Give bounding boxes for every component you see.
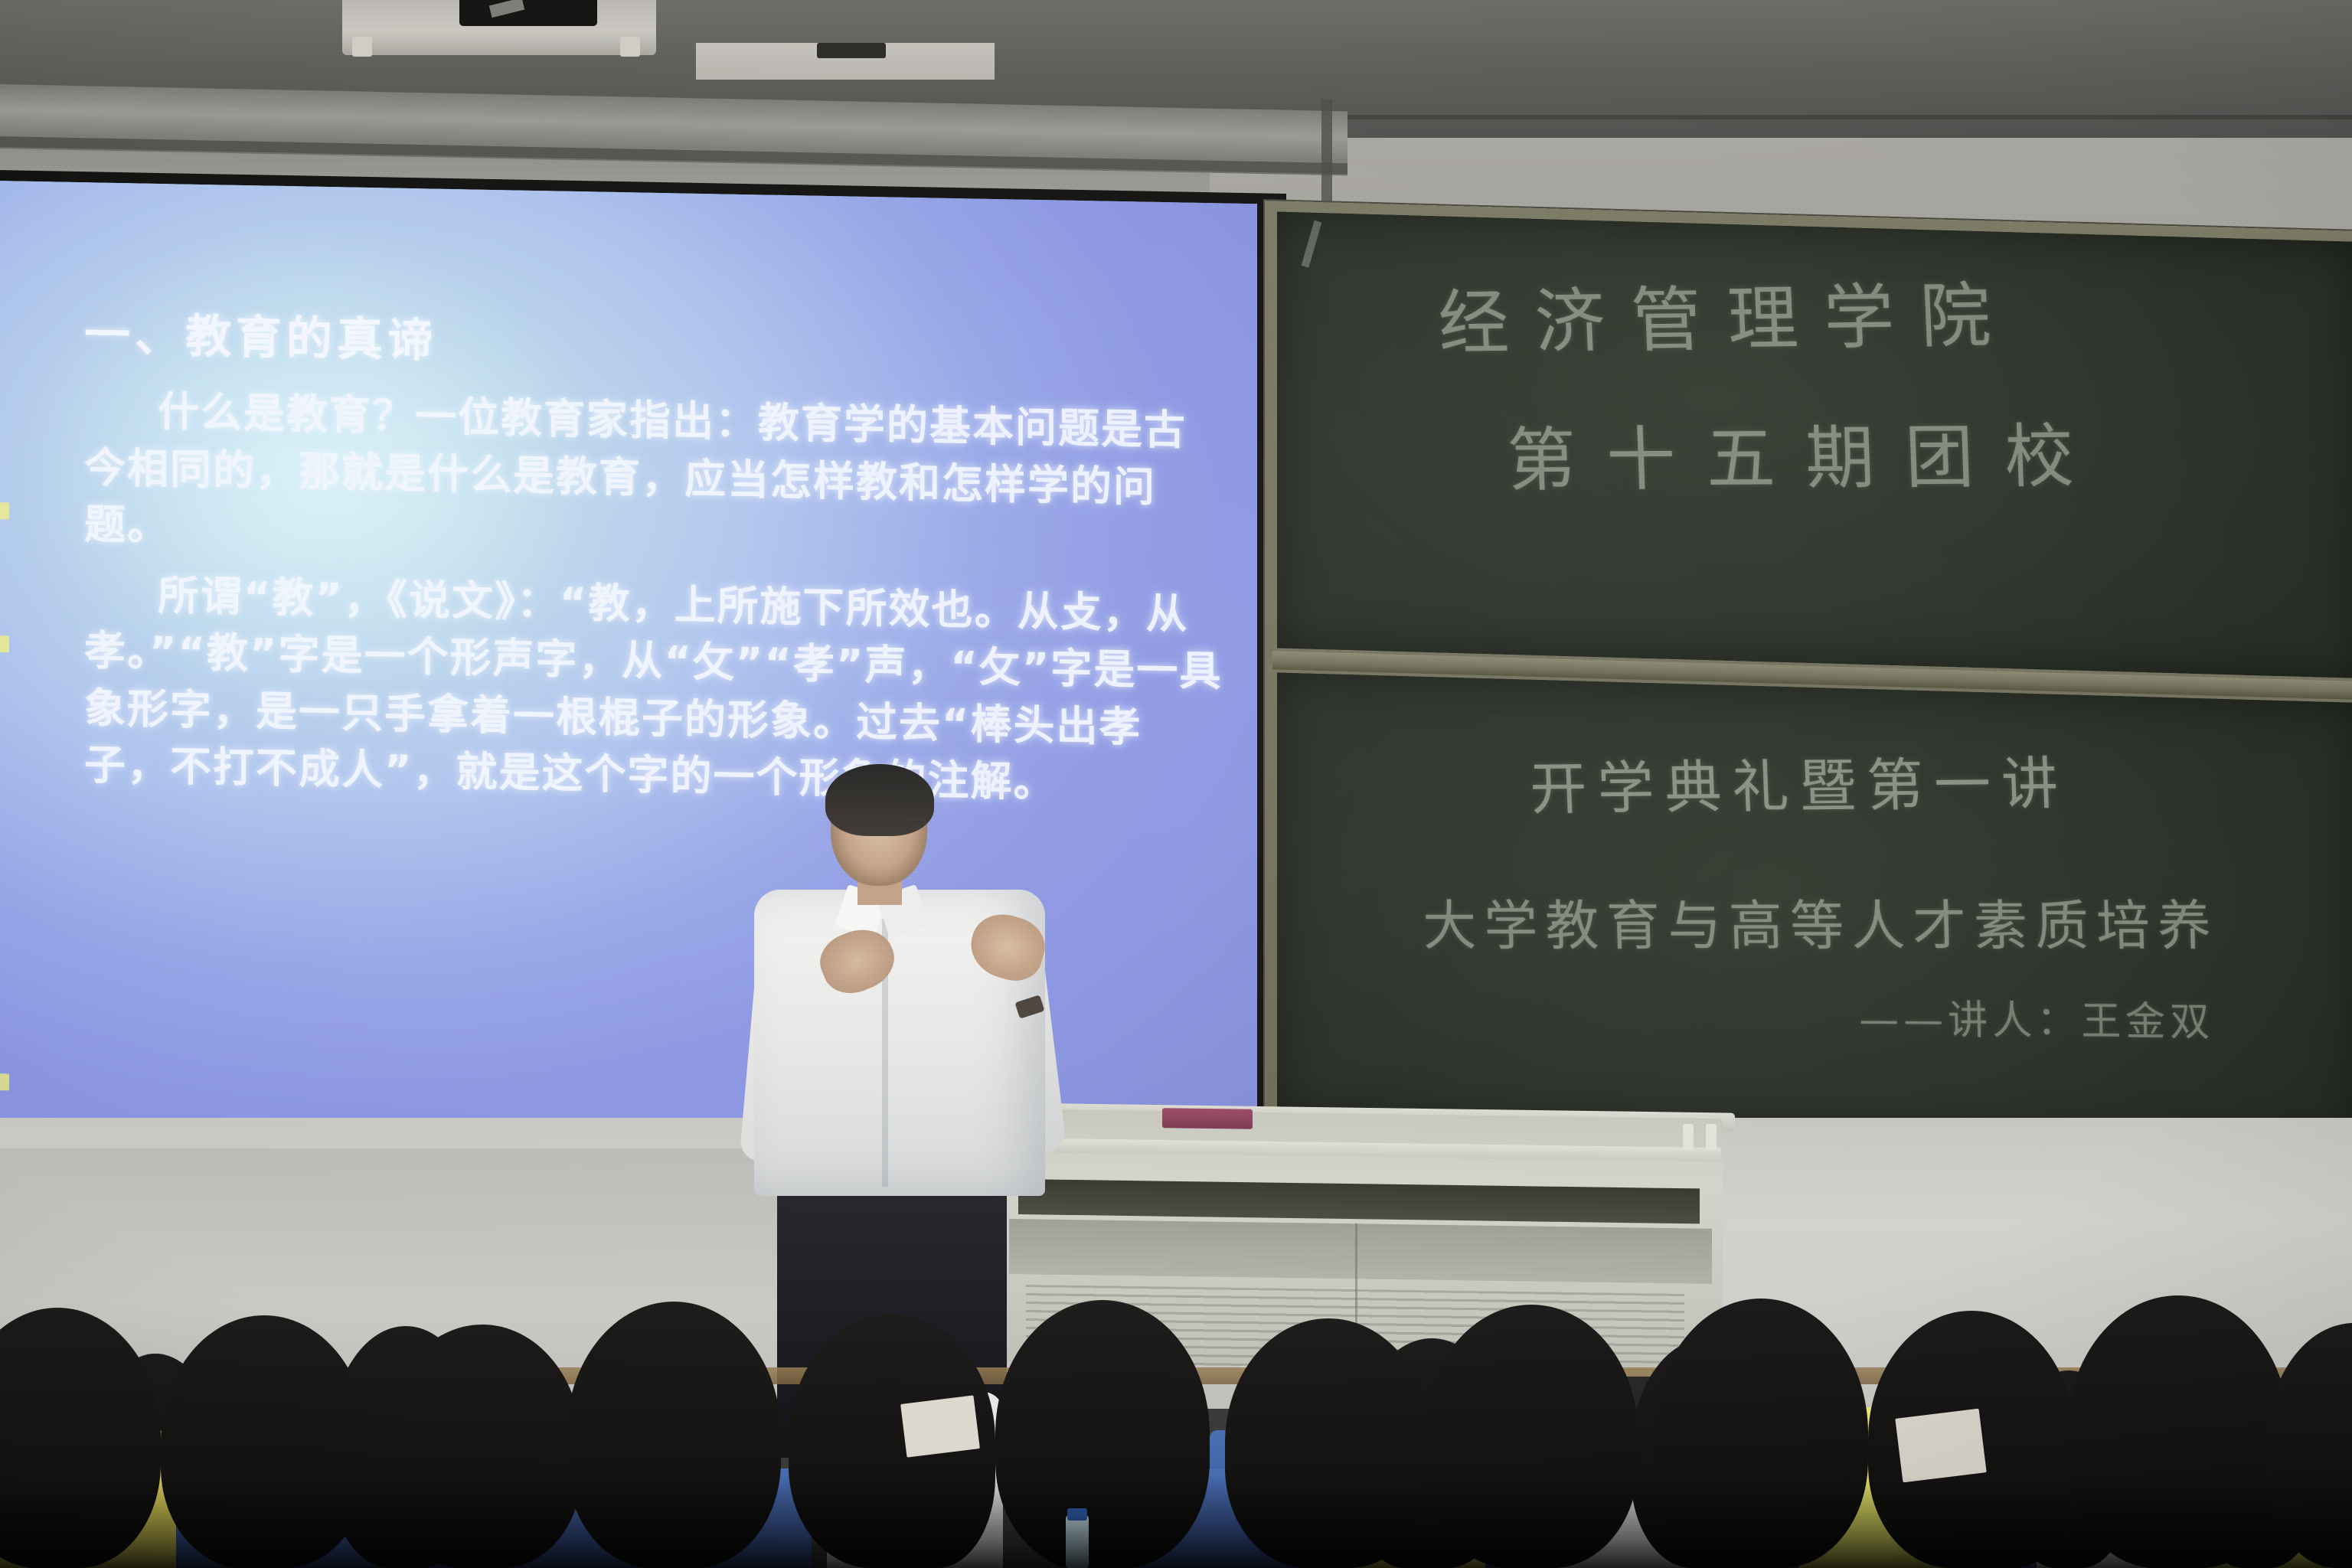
projector-underside-port — [817, 43, 886, 58]
projector-mount-right — [620, 37, 640, 57]
wall-conduit-cap — [1314, 86, 1340, 100]
chalk-stray-mark — [1302, 220, 1322, 268]
slide-bullet-mark — [0, 502, 9, 519]
audience-paper-sheet — [1895, 1409, 1986, 1483]
water-bottle — [1066, 1514, 1089, 1568]
audience-head — [1424, 1305, 1638, 1568]
audience-paper-sheet — [900, 1395, 980, 1457]
lectern-knob-left — [1683, 1124, 1694, 1150]
audience-head — [1654, 1298, 1868, 1568]
slide-bullet-mark — [0, 1073, 9, 1090]
blackboard-upper-line-2: 第十五期团校 — [1505, 400, 2105, 504]
audience-head — [161, 1315, 367, 1568]
blackboard: 经济管理学院 第十五期团校 开学典礼暨第一讲 大学教育与高等人才素质培养 ——讲… — [1265, 201, 2352, 1184]
audience-head — [995, 1300, 1210, 1568]
blackboard-upper-panel: 经济管理学院 第十五期团校 — [1277, 211, 2352, 678]
projector-lens-icon — [459, 0, 597, 26]
slide-bullet-mark — [0, 635, 9, 652]
slide-paragraph-2: 所谓“教”，《说文》：“教，上所施下所效也。从攴，从孝。”“教”字是一个形声字，… — [84, 566, 1225, 815]
lectern-red-object — [1162, 1108, 1253, 1129]
slide-heading: 一、教育的真谛 — [84, 297, 1225, 384]
blackboard-lower-line-1: 开学典礼暨第一讲 — [1528, 738, 2070, 825]
slide-paragraph-1: 什么是教育？一位教育家指出：教育学的基本问题是古今相同的，那就是什么是教育，应当… — [84, 382, 1225, 574]
lecture-hall-photo: 一、教育的真谛 什么是教育？一位教育家指出：教育学的基本问题是古今相同的，那就是… — [0, 0, 2352, 1568]
audience-head — [1225, 1318, 1432, 1568]
audience-head — [2067, 1295, 2289, 1568]
water-bottle-cap — [1067, 1508, 1087, 1521]
blackboard-lower-panel: 开学典礼暨第一讲 大学教育与高等人才素质培养 ——讲人：王金双 — [1277, 672, 2352, 1147]
slide-content: 一、教育的真谛 什么是教育？一位教育家指出：教育学的基本问题是古今相同的，那就是… — [84, 297, 1225, 827]
blackboard-lower-line-3: ——讲人：王金双 — [1858, 988, 2214, 1047]
audience-head — [567, 1302, 781, 1568]
speaker-hair — [825, 764, 934, 836]
audience-head — [383, 1325, 582, 1568]
lectern-knob-right — [1706, 1124, 1717, 1150]
audience-head — [0, 1308, 161, 1568]
blackboard-upper-line-1: 经济管理学院 — [1436, 259, 2019, 369]
projection-screen: 一、教育的真谛 什么是教育？一位教育家指出：教育学的基本问题是古今相同的，那就是… — [0, 170, 1286, 1197]
projector-mount-left — [352, 37, 372, 57]
projection-screen-surface: 一、教育的真谛 什么是教育？一位教育家指出：教育学的基本问题是古今相同的，那就是… — [0, 181, 1257, 1174]
audience-area — [0, 1225, 2352, 1568]
wall-conduit — [1321, 92, 1332, 207]
blackboard-lower-line-2: 大学教育与高等人才素质培养 — [1422, 883, 2220, 960]
